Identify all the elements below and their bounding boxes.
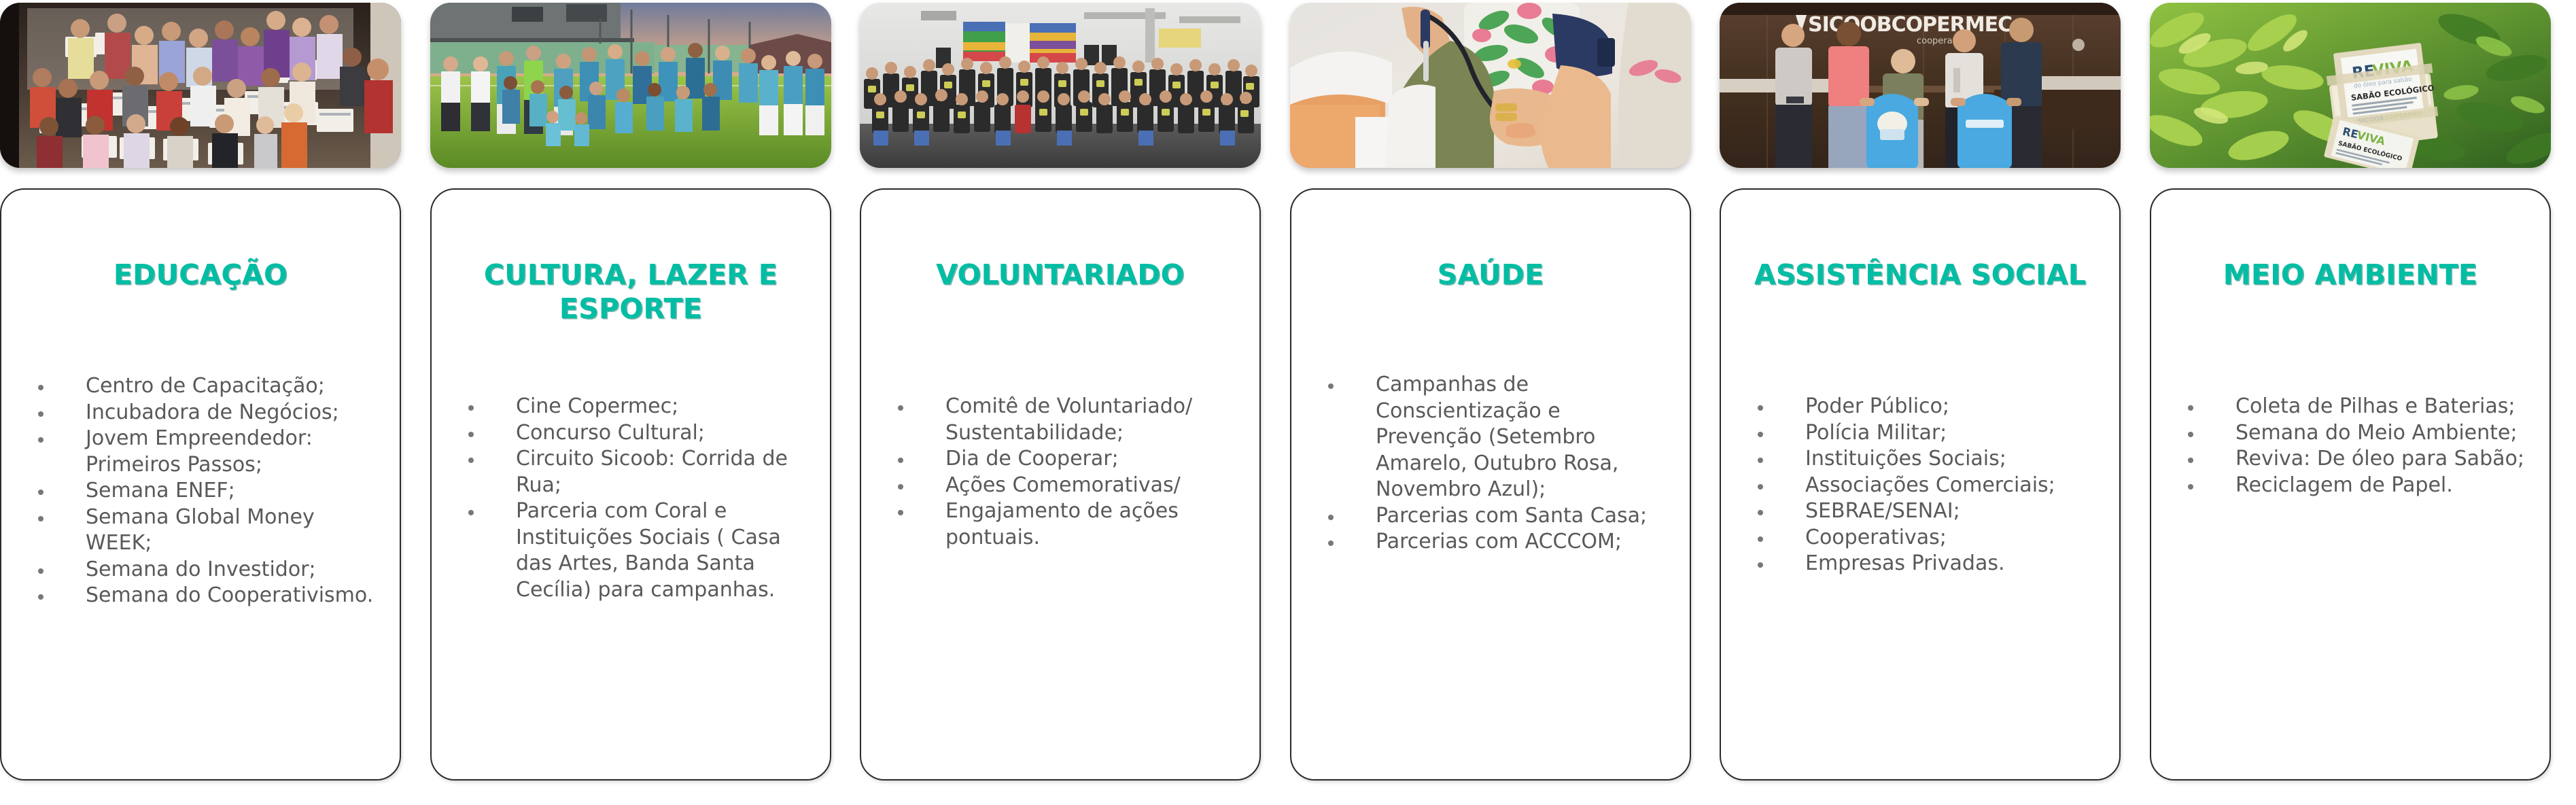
photo-sports-team-wrapper: [430, 3, 831, 168]
card-title-meio-ambiente: MEIO AMBIENTE: [2169, 258, 2532, 292]
photo-volunteer-crowd-wrapper: [860, 3, 1261, 168]
card-title-saude: SAÚDE: [1309, 258, 1672, 292]
list-item: Poder Público;: [1748, 394, 2102, 420]
list-item: Semana ENEF;: [29, 478, 382, 504]
photo-graduation-group-wrapper: [0, 3, 401, 168]
pillar-column-meio-ambiente: RE VIVA do óleo para sabão SABÃO ECOLÓGI…: [2150, 0, 2551, 805]
list-item: Circuito Sicoob: Corrida de Rua;: [459, 446, 812, 498]
list-item: Semana do Investidor;: [29, 557, 382, 583]
pillar-card-voluntariado: VOLUNTARIADO Comitê de Voluntariado/ Sus…: [860, 188, 1261, 781]
photo-reviva-eco-soap-wrapper: RE VIVA do óleo para sabão SABÃO ECOLÓGI…: [2150, 3, 2551, 168]
list-item: Concurso Cultural;: [459, 420, 812, 447]
pillar-card-cultura-lazer-esporte: CULTURA, LAZER E ESPORTE Cine Copermec; …: [430, 188, 831, 781]
photo-sports-team: [430, 3, 831, 168]
card-list-educacao: Centro de Capacitação; Incubadora de Neg…: [29, 373, 382, 609]
list-item: Jovem Empreendedor: Primeiros Passos;: [29, 426, 382, 478]
list-item: Associações Comerciais;: [1748, 473, 2102, 499]
photo-volunteer-crowd: [860, 3, 1261, 168]
photo-graduation-group: [0, 3, 401, 168]
list-item: Parcerias com Santa Casa;: [1319, 503, 1672, 530]
list-item: Campanhas de Conscientização e Prevenção…: [1319, 372, 1672, 503]
card-title-assistencia-social: ASSISTÊNCIA SOCIAL: [1739, 258, 2102, 292]
list-item: Comitê de Voluntariado/ Sustentabilidade…: [888, 394, 1242, 446]
list-item: Engajamento de ações pontuais.: [888, 498, 1242, 551]
list-item: Dia de Cooperar;: [888, 446, 1242, 473]
list-item: Cooperativas;: [1748, 525, 2102, 551]
list-item: Reviva: De óleo para Sabão;: [2178, 446, 2532, 473]
list-item: Ações Comemorativas/: [888, 473, 1242, 499]
card-list-meio-ambiente: Coleta de Pilhas e Baterias; Semana do M…: [2178, 394, 2532, 498]
photo-reviva-eco-soap: RE VIVA do óleo para sabão SABÃO ECOLÓGI…: [2150, 3, 2551, 168]
list-item: Parceria com Coral e Instituições Sociai…: [459, 498, 812, 603]
list-item: Cine Copermec;: [459, 394, 812, 420]
photo-blood-pressure-check-wrapper: [1290, 3, 1691, 168]
pillar-column-voluntariado: VOLUNTARIADO Comitê de Voluntariado/ Sus…: [860, 0, 1261, 805]
card-list-saude: Campanhas de Conscientização e Prevenção…: [1319, 372, 1672, 555]
card-title-educacao: EDUCAÇÃO: [19, 258, 382, 292]
list-item: Centro de Capacitação;: [29, 373, 382, 400]
list-item: Reciclagem de Papel.: [2178, 473, 2532, 499]
pillar-card-saude: SAÚDE Campanhas de Conscientização e Pre…: [1290, 188, 1691, 781]
list-item: Instituições Sociais;: [1748, 446, 2102, 473]
card-list-assistencia-social: Poder Público; Polícia Militar; Institui…: [1748, 394, 2102, 577]
card-list-voluntariado: Comitê de Voluntariado/ Sustentabilidade…: [888, 394, 1242, 551]
list-item: Semana Global Money WEEK;: [29, 504, 382, 557]
card-title-voluntariado: VOLUNTARIADO: [879, 258, 1242, 292]
list-item: Semana do Meio Ambiente;: [2178, 420, 2532, 447]
photo-sicoob-copermec-donation-wrapper: SICOOBCOPERMEC cooperativa: [1720, 3, 2121, 168]
pillar-column-assistencia-social: SICOOBCOPERMEC cooperativa: [1720, 0, 2121, 805]
list-item: Empresas Privadas.: [1748, 551, 2102, 577]
list-item: SEBRAE/SENAI;: [1748, 498, 2102, 525]
pillar-column-saude: SAÚDE Campanhas de Conscientização e Pre…: [1290, 0, 1691, 805]
list-item: Incubadora de Negócios;: [29, 400, 382, 426]
pillar-column-cultura-lazer-esporte: CULTURA, LAZER E ESPORTE Cine Copermec; …: [430, 0, 831, 805]
pillar-column-educacao: EDUCAÇÃO Centro de Capacitação; Incubado…: [0, 0, 401, 805]
pillar-card-assistencia-social: ASSISTÊNCIA SOCIAL Poder Público; Políci…: [1720, 188, 2121, 781]
list-item: Parcerias com ACCCOM;: [1319, 529, 1672, 555]
card-title-cultura-lazer-esporte: CULTURA, LAZER E ESPORTE: [449, 258, 812, 326]
pillars-board: EDUCAÇÃO Centro de Capacitação; Incubado…: [0, 0, 2576, 805]
photo-sicoob-copermec-donation: SICOOBCOPERMEC cooperativa: [1720, 3, 2121, 168]
photo-blood-pressure-check: [1290, 3, 1691, 168]
list-item: Coleta de Pilhas e Baterias;: [2178, 394, 2532, 420]
card-list-cultura-lazer-esporte: Cine Copermec; Concurso Cultural; Circui…: [459, 394, 812, 603]
pillar-card-meio-ambiente: MEIO AMBIENTE Coleta de Pilhas e Bateria…: [2150, 188, 2551, 781]
list-item: Polícia Militar;: [1748, 420, 2102, 447]
pillar-card-educacao: EDUCAÇÃO Centro de Capacitação; Incubado…: [0, 188, 401, 781]
list-item: Semana do Cooperativismo.: [29, 583, 382, 609]
